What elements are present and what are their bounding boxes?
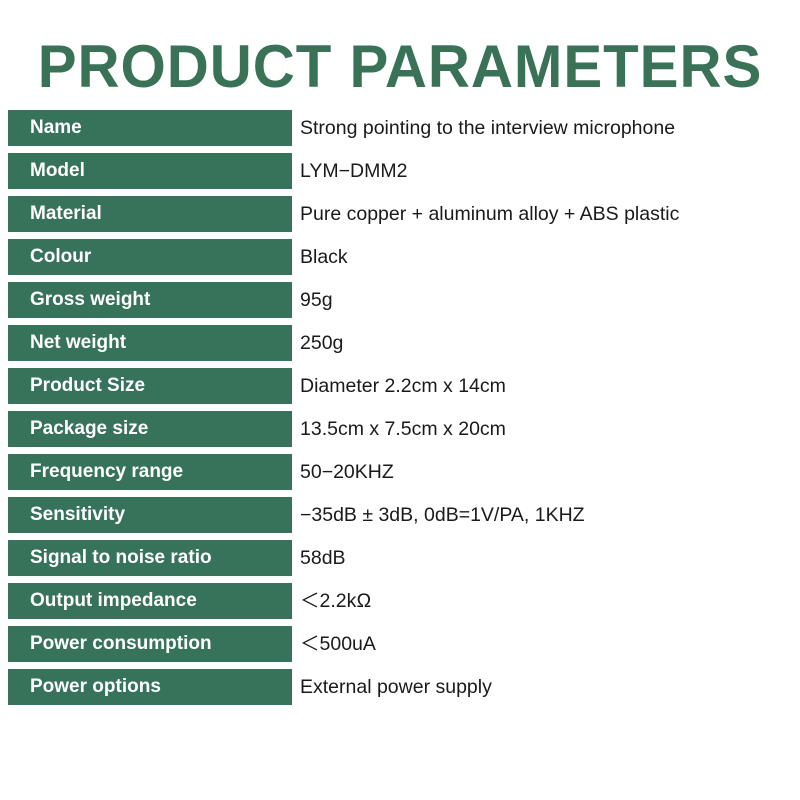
spec-label: Output impedance [8, 583, 292, 619]
spec-label: Model [8, 153, 292, 189]
spec-label: Product Size [8, 368, 292, 404]
table-row: ModelLYM−DMM2 [0, 153, 800, 196]
spec-value: Pure copper + aluminum alloy + ABS plast… [300, 196, 679, 232]
table-row: Output impedance＜2.2kΩ [0, 583, 800, 626]
spec-label: Package size [8, 411, 292, 447]
spec-value: ＜2.2kΩ [300, 583, 371, 619]
table-row: ColourBlack [0, 239, 800, 282]
table-row: Power optionsExternal power supply [0, 669, 800, 712]
spec-table: NameStrong pointing to the interview mic… [0, 110, 800, 712]
table-row: Gross weight95g [0, 282, 800, 325]
spec-value: −35dB ± 3dB, 0dB=1V/PA, 1KHZ [300, 497, 585, 533]
table-row: NameStrong pointing to the interview mic… [0, 110, 800, 153]
table-row: Product SizeDiameter 2.2cm x 14cm [0, 368, 800, 411]
page-title: PRODUCT PARAMETERS [12, 36, 788, 98]
spec-value: ＜500uA [300, 626, 376, 662]
spec-label: Net weight [8, 325, 292, 361]
spec-label: Power options [8, 669, 292, 705]
table-row: Net weight250g [0, 325, 800, 368]
table-row: MaterialPure copper + aluminum alloy + A… [0, 196, 800, 239]
spec-label: Sensitivity [8, 497, 292, 533]
product-parameters-page: PRODUCT PARAMETERS NameStrong pointing t… [0, 0, 800, 800]
spec-value: Diameter 2.2cm x 14cm [300, 368, 506, 404]
spec-label: Power consumption [8, 626, 292, 662]
spec-value: External power supply [300, 669, 492, 705]
spec-value: 13.5cm x 7.5cm x 20cm [300, 411, 506, 447]
spec-label: Gross weight [8, 282, 292, 318]
table-row: Signal to noise ratio58dB [0, 540, 800, 583]
spec-value: 50−20KHZ [300, 454, 394, 490]
table-row: Frequency range50−20KHZ [0, 454, 800, 497]
spec-value: Black [300, 239, 348, 275]
table-row: Package size13.5cm x 7.5cm x 20cm [0, 411, 800, 454]
table-row: Power consumption＜500uA [0, 626, 800, 669]
spec-label: Name [8, 110, 292, 146]
spec-value: 250g [300, 325, 343, 361]
spec-value: 58dB [300, 540, 346, 576]
spec-label: Material [8, 196, 292, 232]
spec-label: Colour [8, 239, 292, 275]
spec-label: Frequency range [8, 454, 292, 490]
spec-value: LYM−DMM2 [300, 153, 407, 189]
spec-value: 95g [300, 282, 333, 318]
spec-value: Strong pointing to the interview microph… [300, 110, 675, 146]
spec-label: Signal to noise ratio [8, 540, 292, 576]
table-row: Sensitivity−35dB ± 3dB, 0dB=1V/PA, 1KHZ [0, 497, 800, 540]
